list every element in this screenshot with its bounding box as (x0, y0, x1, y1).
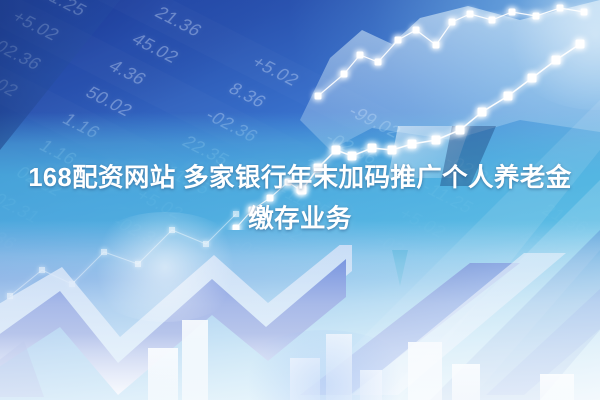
headline-line-2: 缴存业务 (18, 199, 582, 240)
page-title: 168配资网站 多家银行年末加码推广个人养老金 缴存业务 (0, 158, 600, 240)
banner-image: -99.02-02.3621.36+5.02-99.02-02.3621.36-… (0, 0, 600, 400)
headline-line-1: 168配资网站 多家银行年末加码推广个人养老金 (18, 158, 582, 199)
